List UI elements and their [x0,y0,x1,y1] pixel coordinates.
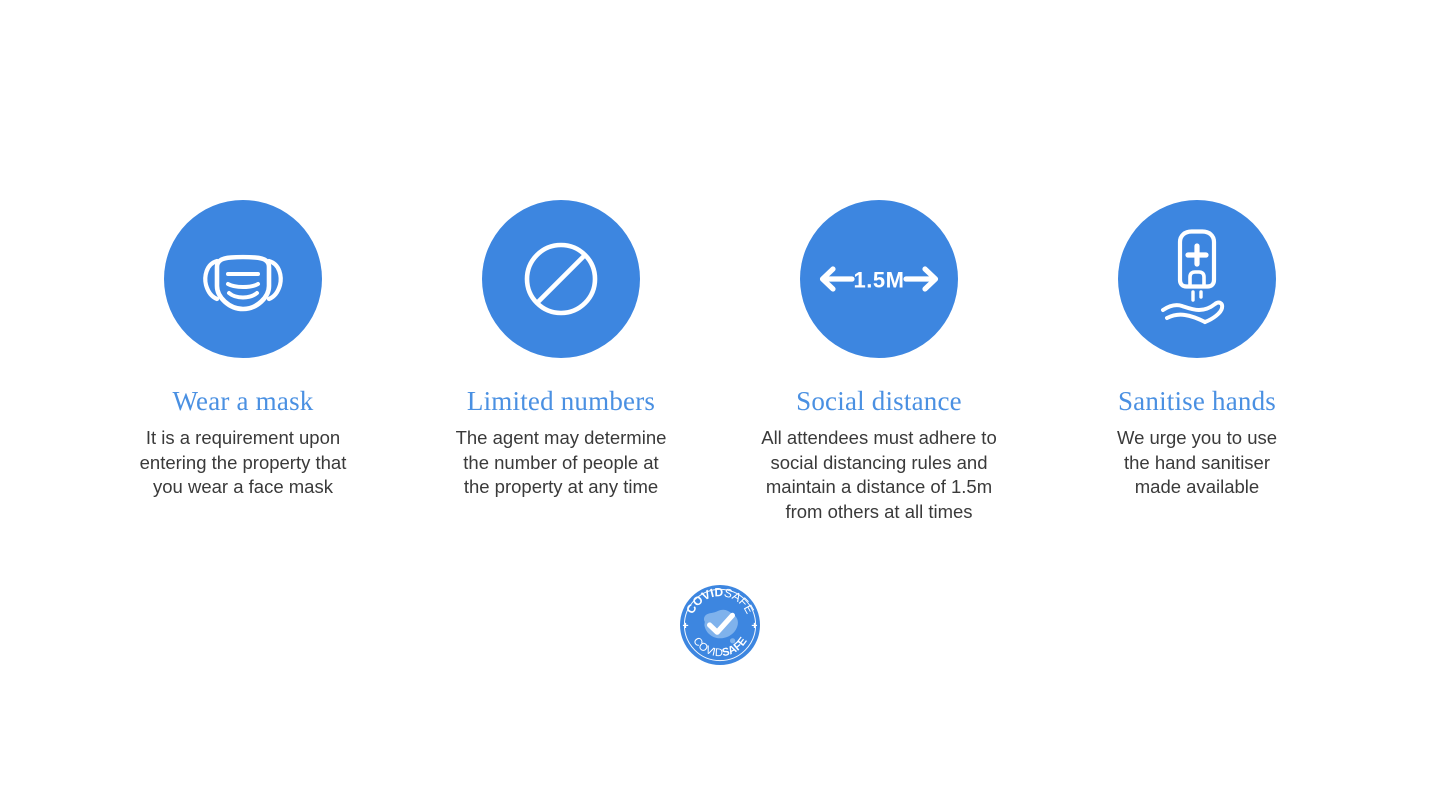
slide-root: Wear a mask It is a requirement upon ent… [0,0,1440,810]
covidsafe-badge-wrap: COVIDSAFE COVIDSAFE + + [0,585,1440,665]
prohibition-circle-icon [511,229,611,329]
badge-separator-right: + [751,621,757,632]
card-body: It is a requirement upon entering the pr… [118,426,368,500]
guidelines-row: Wear a mask It is a requirement upon ent… [0,200,1440,524]
face-mask-icon-circle [164,200,322,358]
card-title: Limited numbers [467,386,655,417]
card-body: All attendees must adhere to social dist… [734,426,1024,524]
hand-sanitiser-icon [1147,224,1247,334]
card-title: Wear a mask [173,386,314,417]
guideline-card-sanitise-hands: Sanitise hands We urge you to use the ha… [1038,200,1356,500]
social-distance-label: 1.5M [854,268,905,293]
prohibition-circle-icon-circle [482,200,640,358]
card-title: Social distance [796,386,962,417]
guideline-card-limited-numbers: Limited numbers The agent may determine … [402,200,720,500]
card-title: Sanitise hands [1118,386,1276,417]
social-distance-icon-circle: 1.5M [800,200,958,358]
hand-sanitiser-icon-circle [1118,200,1276,358]
card-body: We urge you to use the hand sanitiser ma… [1072,426,1322,500]
covidsafe-badge: COVIDSAFE COVIDSAFE + + [680,585,760,665]
guideline-card-wear-a-mask: Wear a mask It is a requirement upon ent… [84,200,402,500]
guideline-card-social-distance: 1.5M Social distance All attendees must … [720,200,1038,524]
face-mask-icon [193,229,293,329]
social-distance-icon: 1.5M [814,249,944,309]
badge-separator-left: + [683,621,689,632]
card-body: The agent may determine the number of pe… [436,426,686,500]
